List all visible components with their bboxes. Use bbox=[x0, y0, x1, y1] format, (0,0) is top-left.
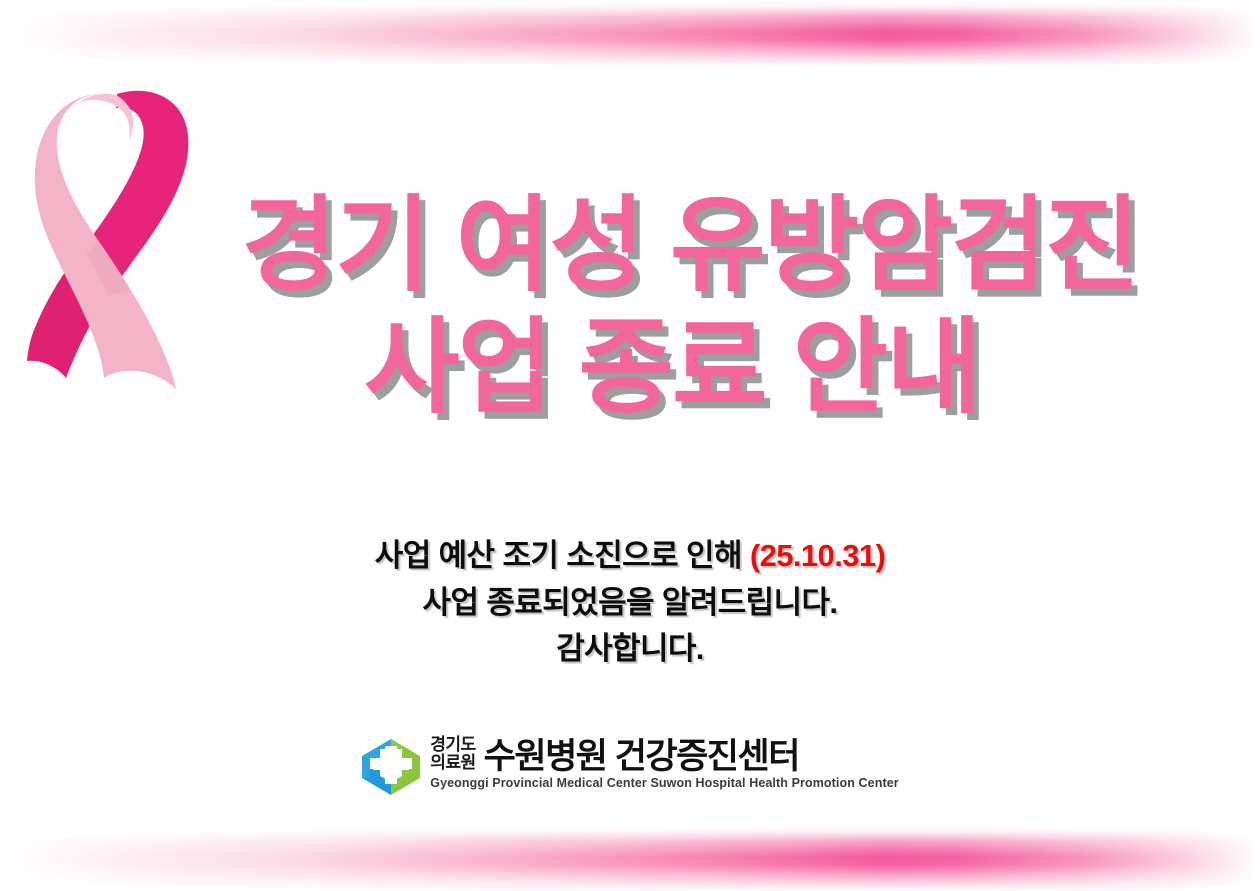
logo-english-tagline: Gyeonggi Provincial Medical Center Suwon… bbox=[430, 776, 898, 790]
end-date-badge: (25.10.31) bbox=[750, 538, 885, 573]
top-band-color-sweep bbox=[0, 0, 1260, 66]
notice-line-2: 사업 종료되었음을 알려드립니다. bbox=[0, 580, 1260, 627]
headline-line-1: 경기 여성 유방암검진 bbox=[0, 186, 1260, 308]
logo-kr-small-stack: 경기도 의료원 bbox=[430, 736, 475, 774]
page-title: 경기 여성 유방암검진 사업 종료 안내 bbox=[0, 186, 1260, 429]
bottom-pink-gradient-band bbox=[0, 825, 1260, 891]
notice-body: 사업 예산 조기 소진으로 인해 (25.10.31) 사업 종료되었음을 알려… bbox=[0, 533, 1260, 673]
logo-kr-small-line2: 의료원 bbox=[430, 754, 475, 772]
poster-canvas: 경기 여성 유방암검진 사업 종료 안내 사업 예산 조기 소진으로 인해 (2… bbox=[0, 0, 1260, 891]
top-band-vertical-fade bbox=[0, 0, 1260, 66]
medical-cross-logo-icon bbox=[361, 738, 421, 796]
bottom-band-vertical-fade bbox=[0, 825, 1260, 891]
logo-kr-small-line1: 경기도 bbox=[430, 736, 475, 754]
top-pink-gradient-band bbox=[0, 0, 1260, 66]
notice-line-1-text: 사업 예산 조기 소진으로 인해 bbox=[375, 538, 750, 573]
headline-line-2: 사업 종료 안내 bbox=[0, 308, 1260, 430]
organization-logo: 경기도 의료원 수원병원 건강증진센터 Gyeonggi Provincial … bbox=[0, 736, 1260, 796]
bottom-band-color-sweep bbox=[0, 825, 1260, 891]
notice-line-1: 사업 예산 조기 소진으로 인해 (25.10.31) bbox=[0, 533, 1260, 580]
notice-line-3: 감사합니다. bbox=[0, 626, 1260, 673]
logo-wordmark: 경기도 의료원 수원병원 건강증진센터 Gyeonggi Provincial … bbox=[430, 736, 898, 792]
logo-kr-main: 수원병원 건강증진센터 bbox=[484, 739, 799, 774]
